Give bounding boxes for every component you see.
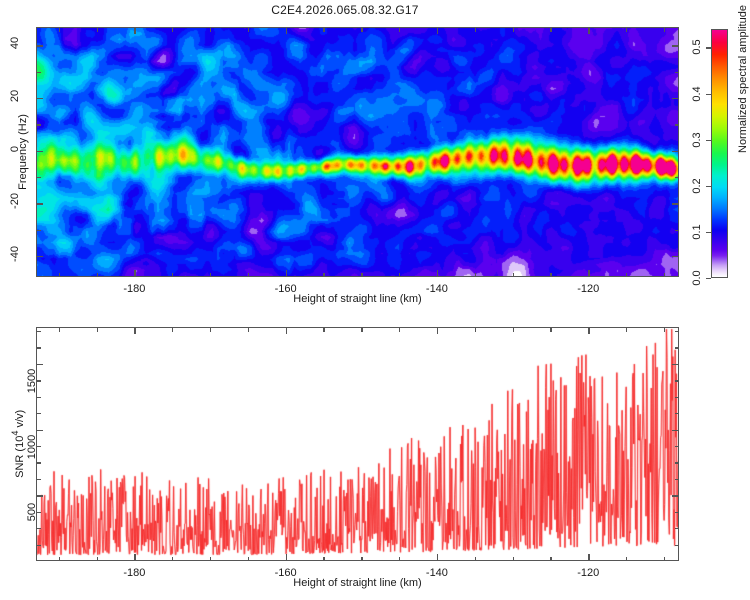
- snr-y-minor-tick-right: [675, 331, 679, 332]
- spectrogram-x-tick-top: [134, 28, 135, 34]
- spectrogram-x-minor-tick: [248, 273, 249, 277]
- colorbar-tick: [706, 278, 711, 279]
- spectrogram-x-minor-tick-top: [361, 28, 362, 32]
- spectrogram-x-minor-tick: [475, 273, 476, 277]
- snr-y-axis-label-exponent: 4: [10, 431, 20, 436]
- snr-y-minor-tick-right: [675, 347, 679, 348]
- snr-y-minor-tick: [37, 397, 41, 398]
- spectrogram-x-tick: [134, 270, 135, 276]
- spectrogram-x-minor-tick-top: [323, 28, 324, 32]
- colorbar-tick-label: 0.5: [691, 40, 703, 55]
- spectrogram-y-tick: [37, 98, 43, 99]
- spectrogram-x-minor-tick: [626, 273, 627, 277]
- spectrogram-x-tick-top: [286, 28, 287, 34]
- spectrogram-y-tick: [37, 256, 43, 257]
- snr-x-tick-top: [286, 328, 287, 334]
- spectrogram-y-minor-tick: [37, 124, 41, 125]
- spectrogram-plot-area: [36, 27, 679, 277]
- spectrogram-y-tick-right: [672, 256, 678, 257]
- spectrogram-y-minor-tick-right: [675, 72, 679, 73]
- snr-x-minor-tick-top: [399, 328, 400, 332]
- colorbar-tick-label: 0.1: [691, 224, 703, 239]
- spectrogram-x-minor-tick: [513, 273, 514, 277]
- snr-x-tick-top: [588, 328, 589, 334]
- spectrogram-x-axis-label: Height of straight line (km): [36, 293, 679, 305]
- snr-x-minor-tick-top: [550, 328, 551, 332]
- snr-x-minor-tick-top: [361, 328, 362, 332]
- spectrogram-image: [37, 28, 678, 276]
- snr-y-minor-tick-right: [675, 528, 679, 529]
- snr-y-minor-tick-right: [675, 380, 679, 381]
- spectrogram-x-minor-tick-top: [399, 28, 400, 32]
- spectrogram-x-minor-tick: [97, 273, 98, 277]
- colorbar-tick: [706, 232, 711, 233]
- spectrogram-y-tick: [37, 151, 43, 152]
- spectrogram-y-minor-tick-right: [675, 177, 679, 178]
- snr-y-minor-tick: [37, 512, 41, 513]
- snr-x-minor-tick: [248, 557, 249, 561]
- snr-y-minor-tick: [37, 528, 41, 529]
- snr-x-minor-tick: [361, 557, 362, 561]
- colorbar: [711, 29, 728, 278]
- colorbar-tick-label: 0.0: [691, 270, 703, 285]
- snr-x-minor-tick: [626, 557, 627, 561]
- snr-y-axis-label-tail: v/v): [14, 410, 26, 431]
- snr-y-minor-tick: [37, 479, 41, 480]
- spectrogram-y-tick: [37, 203, 43, 204]
- snr-y-minor-tick-right: [675, 397, 679, 398]
- spectrogram-x-minor-tick-top: [475, 28, 476, 32]
- spectrogram-x-minor-tick-top: [550, 28, 551, 32]
- snr-x-minor-tick-top: [664, 328, 665, 332]
- spectrogram-y-tick-right: [672, 203, 678, 204]
- figure-canvas: C2E4.2026.065.08.32.G17 40200-20-40 Freq…: [0, 0, 750, 600]
- spectrogram-x-minor-tick-top: [626, 28, 627, 32]
- snr-y-minor-tick-right: [675, 413, 679, 414]
- snr-x-tick: [437, 554, 438, 560]
- snr-x-minor-tick-top: [172, 328, 173, 332]
- spectrogram-x-tick-top: [437, 28, 438, 34]
- spectrogram-x-minor-tick: [361, 273, 362, 277]
- snr-x-axis-label: Height of straight line (km): [36, 577, 679, 589]
- snr-x-minor-tick-top: [97, 328, 98, 332]
- spectrogram-x-minor-tick-top: [210, 28, 211, 32]
- spectrogram-y-minor-tick-right: [675, 124, 679, 125]
- spectrogram-y-tick: [37, 45, 43, 46]
- snr-x-minor-tick-top: [626, 328, 627, 332]
- snr-x-minor-tick-top: [513, 328, 514, 332]
- colorbar-gradient: [711, 29, 728, 278]
- snr-x-tick: [134, 554, 135, 560]
- colorbar-tick-label: 0.4: [691, 86, 703, 101]
- snr-y-minor-tick: [37, 331, 41, 332]
- snr-x-minor-tick: [399, 557, 400, 561]
- spectrogram-y-minor-tick: [37, 72, 41, 73]
- snr-y-minor-tick: [37, 347, 41, 348]
- snr-x-tick-top: [134, 328, 135, 334]
- spectrogram-y-tick-right: [672, 151, 678, 152]
- spectrogram-x-minor-tick-top: [59, 28, 60, 32]
- spectrogram-x-minor-tick: [172, 273, 173, 277]
- spectrogram-x-minor-tick-top: [664, 28, 665, 32]
- snr-y-axis-label: SNR (104 v/v): [10, 374, 26, 514]
- snr-x-minor-tick: [323, 557, 324, 561]
- spectrogram-x-minor-tick-top: [97, 28, 98, 32]
- snr-y-tick-right: [672, 430, 678, 431]
- spectrogram-x-minor-tick: [59, 273, 60, 277]
- snr-x-minor-tick: [664, 557, 665, 561]
- snr-y-minor-tick: [37, 462, 41, 463]
- snr-trace: [37, 328, 678, 560]
- colorbar-tick: [706, 94, 711, 95]
- snr-x-minor-tick: [210, 557, 211, 561]
- snr-y-minor-tick: [37, 413, 41, 414]
- snr-y-minor-tick-right: [675, 512, 679, 513]
- spectrogram-y-tick-right: [672, 45, 678, 46]
- spectrogram-x-tick-top: [588, 28, 589, 34]
- snr-y-minor-tick: [37, 380, 41, 381]
- spectrogram-y-tick-label: 40: [9, 28, 21, 58]
- spectrogram-y-minor-tick: [37, 177, 41, 178]
- spectrogram-x-tick: [588, 270, 589, 276]
- snr-y-minor-tick-right: [675, 462, 679, 463]
- snr-x-minor-tick: [97, 557, 98, 561]
- spectrogram-y-minor-tick: [37, 230, 41, 231]
- colorbar-tick-label: 0.3: [691, 132, 703, 147]
- spectrogram-x-minor-tick-top: [248, 28, 249, 32]
- snr-y-minor-tick: [37, 446, 41, 447]
- snr-x-minor-tick-top: [248, 328, 249, 332]
- colorbar-tick: [706, 47, 711, 48]
- snr-x-minor-tick: [550, 557, 551, 561]
- spectrogram-x-minor-tick: [399, 273, 400, 277]
- spectrogram-x-minor-tick: [210, 273, 211, 277]
- spectrogram-x-minor-tick: [550, 273, 551, 277]
- spectrogram-x-minor-tick: [664, 273, 665, 277]
- spectrogram-x-minor-tick: [323, 273, 324, 277]
- spectrogram-x-minor-tick-top: [513, 28, 514, 32]
- colorbar-label: Normalized spectral amplitude: [737, 5, 749, 153]
- snr-x-minor-tick: [513, 557, 514, 561]
- snr-x-minor-tick: [475, 557, 476, 561]
- snr-x-minor-tick: [59, 557, 60, 561]
- snr-x-minor-tick-top: [323, 328, 324, 332]
- snr-y-tick-right: [672, 495, 678, 496]
- snr-y-minor-tick-right: [675, 545, 679, 546]
- colorbar-tick: [706, 186, 711, 187]
- snr-x-tick: [286, 554, 287, 560]
- snr-x-minor-tick-top: [210, 328, 211, 332]
- snr-y-axis-label-base: SNR (10: [14, 436, 26, 478]
- page-title: C2E4.2026.065.08.32.G17: [0, 3, 690, 17]
- colorbar-tick: [706, 140, 711, 141]
- snr-x-tick: [588, 554, 589, 560]
- spectrogram-y-tick-right: [672, 98, 678, 99]
- snr-x-minor-tick-top: [475, 328, 476, 332]
- snr-x-minor-tick: [172, 557, 173, 561]
- spectrogram-x-tick: [286, 270, 287, 276]
- colorbar-tick-label: 0.2: [691, 178, 703, 193]
- spectrogram-y-minor-tick-right: [675, 230, 679, 231]
- snr-y-minor-tick: [37, 545, 41, 546]
- snr-plot-area: [36, 327, 679, 561]
- spectrogram-y-axis-label: Frequency (Hz): [17, 82, 29, 222]
- spectrogram-y-tick-label: -40: [9, 239, 21, 269]
- snr-y-tick-right: [672, 364, 678, 365]
- spectrogram-x-minor-tick-top: [172, 28, 173, 32]
- snr-y-minor-tick-right: [675, 479, 679, 480]
- snr-x-minor-tick-top: [59, 328, 60, 332]
- snr-y-minor-tick-right: [675, 446, 679, 447]
- spectrogram-x-tick: [437, 270, 438, 276]
- snr-x-tick-top: [437, 328, 438, 334]
